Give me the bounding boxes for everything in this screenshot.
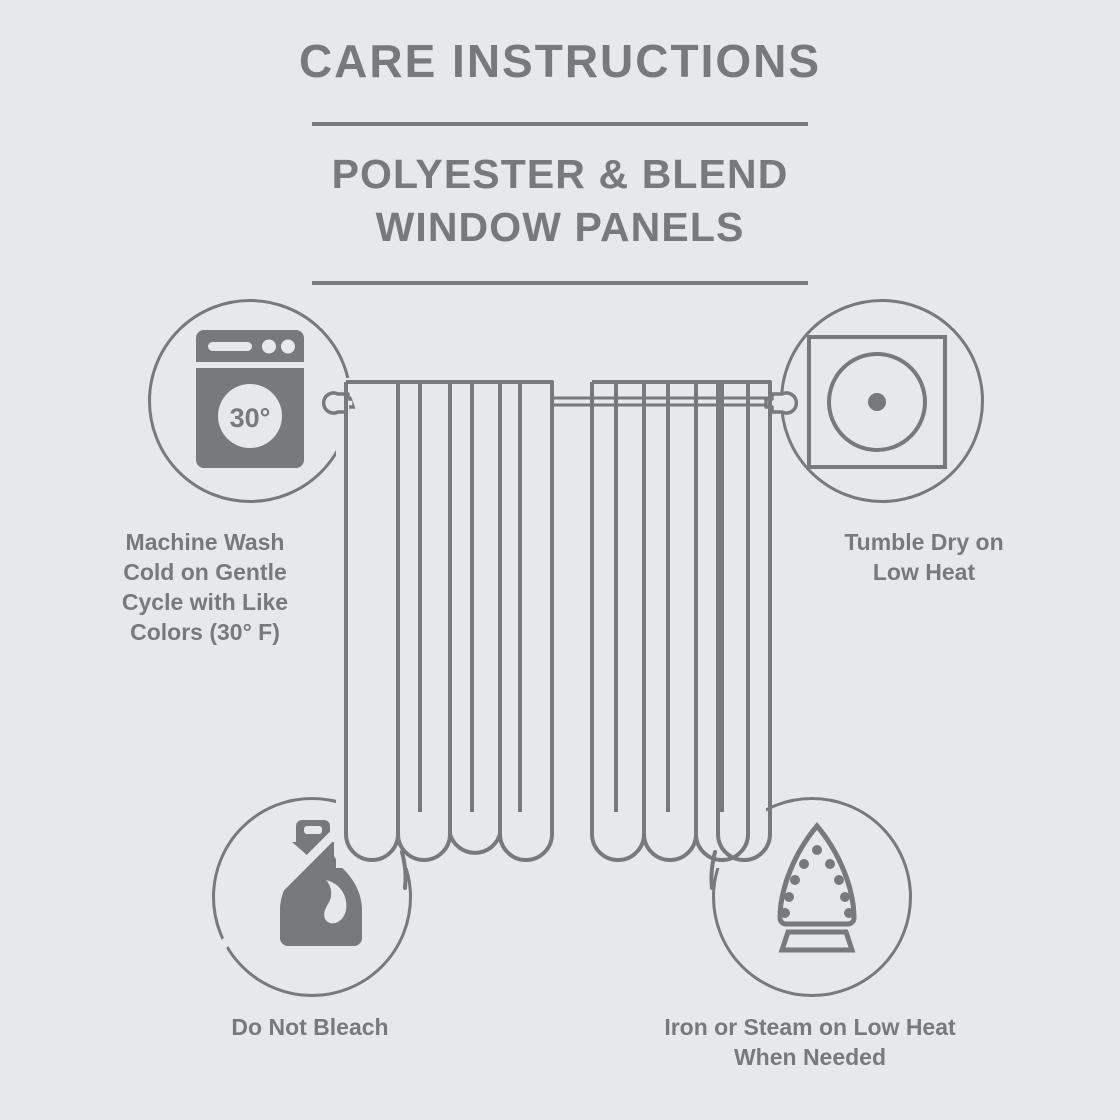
curtain-panels-illustration [0, 0, 1120, 1120]
care-instructions-infographic: CARE INSTRUCTIONS POLYESTER & BLEND WIND… [0, 0, 1120, 1120]
curtain-panel-left [346, 382, 552, 888]
